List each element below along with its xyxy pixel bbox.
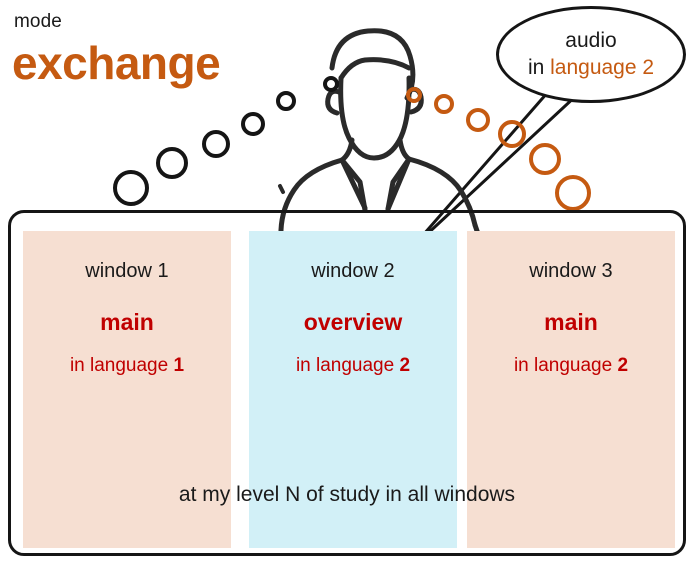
bubble-left-1 <box>325 78 337 90</box>
window-3-kind: main <box>467 311 675 334</box>
bubble-right-1 <box>408 89 420 101</box>
bubble-left-4 <box>204 132 228 156</box>
window-2-language-number: 2 <box>399 355 410 376</box>
panel-footer-note: at my level N of study in all windows <box>11 483 683 507</box>
window-1-kind: main <box>23 311 231 334</box>
speech-bubble-text: audio in language 2 <box>496 6 686 103</box>
windows-panel: window 1 main in language 1 window 2 ove… <box>8 210 686 556</box>
bubble-right-5 <box>531 145 559 173</box>
window-1-title: window 1 <box>23 261 231 281</box>
bubble-right-4 <box>500 122 524 146</box>
thought-bubbles-left <box>115 78 337 204</box>
speech-bubble-line1: audio <box>565 29 616 54</box>
window-3-language-number: 2 <box>617 355 628 376</box>
bubble-right-6 <box>557 177 589 209</box>
window-3-language-prefix: in language <box>514 355 618 376</box>
bubble-left-5 <box>158 149 186 177</box>
speech-bubble-line2-prefix: in <box>528 56 550 79</box>
window-2-language: in language 2 <box>249 356 457 375</box>
speech-bubble-line2: in language 2 <box>528 56 654 81</box>
mode-value: exchange <box>12 40 220 86</box>
window-3-language: in language 2 <box>467 356 675 375</box>
window-1-language: in language 1 <box>23 356 231 375</box>
bubble-left-2 <box>278 93 294 109</box>
speech-bubble-line2-accent: language 2 <box>550 56 654 79</box>
thought-bubbles-right <box>408 89 589 209</box>
window-2-kind: overview <box>249 311 457 334</box>
mode-label: mode <box>14 12 62 31</box>
window-1-language-prefix: in language <box>70 355 174 376</box>
window-3-title: window 3 <box>467 261 675 281</box>
window-2-title: window 2 <box>249 261 457 281</box>
bubble-left-3 <box>243 114 263 134</box>
diagram-canvas: mode exchange <box>0 0 694 564</box>
bubble-right-2 <box>436 96 452 112</box>
bubble-left-6 <box>115 172 147 204</box>
window-1-language-number: 1 <box>173 355 184 376</box>
bubble-right-3 <box>468 110 488 130</box>
speech-bubble: audio in language 2 <box>496 6 686 103</box>
window-2-language-prefix: in language <box>296 355 400 376</box>
